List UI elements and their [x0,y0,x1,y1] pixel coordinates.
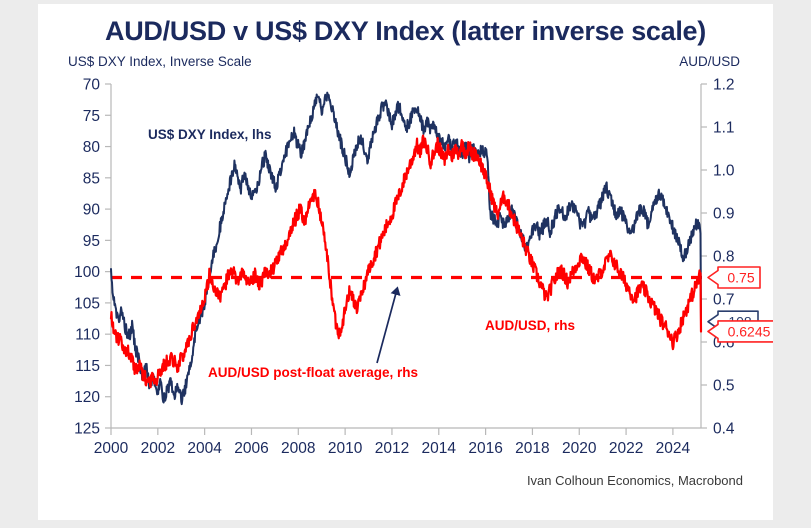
left-axis-tick-label: 100 [74,264,100,281]
right-axis-tick-label: 1.1 [713,120,735,137]
svg-text:0.6245: 0.6245 [728,323,771,339]
left-axis-tick-label: 120 [74,389,100,406]
left-axis-tick-label: 80 [83,139,101,156]
bottom-axis-tick-label: 2020 [562,440,597,457]
right-axis-ticks: 1.21.11.00.90.80.70.60.50.4 [701,77,735,438]
left-axis-tick-label: 125 [74,421,100,438]
right-axis-tick-label: 0.5 [713,378,735,395]
bottom-axis-tick-label: 2008 [281,440,315,457]
source-attribution: Ivan Colhoun Economics, Macrobond [527,473,743,488]
badge-audusd-last-value: 0.6245 [708,321,773,342]
bottom-axis-tick-label: 2002 [141,440,175,457]
svg-text:0.75: 0.75 [727,270,754,286]
bottom-axis-tick-label: 2022 [609,440,643,457]
bottom-axis-tick-label: 2016 [468,440,502,457]
left-axis-tick-label: 105 [74,295,100,312]
bottom-axis-tick-label: 2000 [94,440,129,457]
right-axis-tick-label: 1.2 [713,77,735,94]
right-axis-tick-label: 0.9 [713,206,735,223]
annotation-audusd-label: AUD/USD, rhs [485,318,575,333]
annotation-dxy-label: US$ DXY Index, lhs [148,127,272,142]
badge-aud-post-float-average: 0.75 [708,267,760,288]
right-axis-tick-label: 1.0 [713,163,735,180]
chart-card: AUD/USD v US$ DXY Index (latter inverse … [38,4,773,520]
left-axis-tick-label: 75 [83,108,100,125]
bottom-axis-tick-label: 2024 [656,440,691,457]
chart-annotations: US$ DXY Index, lhsAUD/USD, rhsAUD/USD po… [148,127,575,380]
chart-plot-area: 707580859095100105110115120125 1.21.11.0… [38,4,773,520]
left-axis-tick-label: 115 [75,358,100,375]
series-line-audusd [111,136,701,388]
left-axis-tick-label: 110 [75,327,100,344]
annotation-arrow-post-float [377,293,396,363]
bottom-axis-tick-label: 2006 [234,440,268,457]
left-axis-tick-label: 90 [83,202,101,219]
right-axis-tick-label: 0.4 [713,421,735,438]
bottom-axis-tick-label: 2018 [515,440,549,457]
line-chart-svg: 707580859095100105110115120125 1.21.11.0… [38,4,773,520]
right-axis-tick-label: 0.8 [713,249,735,266]
annotation-postfloat-label: AUD/USD post-float average, rhs [208,365,418,380]
bottom-axis-ticks: 2000200220042006200820102012201420162018… [94,428,701,457]
bottom-axis-tick-label: 2014 [422,440,457,457]
left-axis-tick-label: 95 [83,233,100,250]
left-axis-tick-label: 70 [83,77,101,94]
left-axis-ticks: 707580859095100105110115120125 [74,77,111,438]
bottom-axis-tick-label: 2010 [328,440,363,457]
left-axis-tick-label: 85 [83,170,100,187]
right-axis-tick-label: 0.7 [713,292,735,309]
bottom-axis-tick-label: 2004 [187,440,222,457]
bottom-axis-tick-label: 2012 [375,440,409,457]
